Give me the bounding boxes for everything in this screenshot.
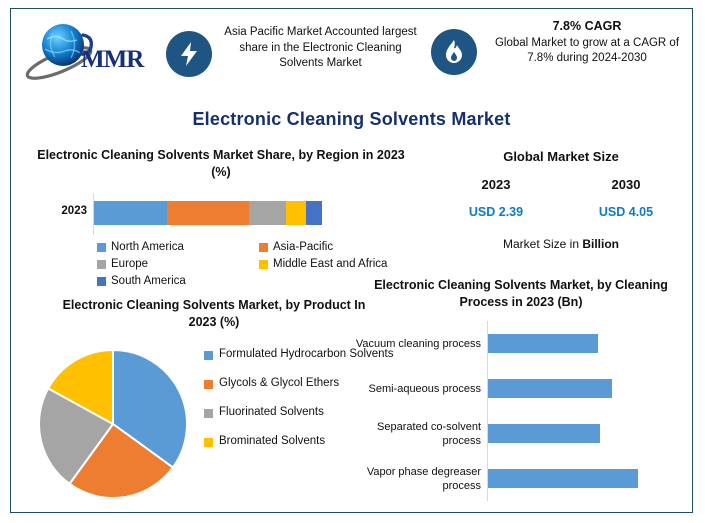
gms-value-2023: USD 2.39 [431, 205, 561, 219]
region-share-chart: Electronic Cleaning Solvents Market Shar… [21, 147, 421, 287]
process-category-label: Separated co-solvent process [351, 411, 481, 456]
region-legend-label: Europe [111, 256, 148, 272]
process-bar [488, 469, 638, 488]
region-legend-item: North America [97, 239, 259, 255]
page-title: Electronic Cleaning Solvents Market [11, 109, 692, 130]
legend-swatch-icon [259, 243, 268, 252]
legend-swatch-icon [97, 243, 106, 252]
pie-legend-label: Brominated Solvents [219, 434, 325, 449]
process-row: Separated co-solvent process [351, 411, 691, 456]
region-segment-3 [286, 201, 307, 225]
global-market-size-values: USD 2.39 USD 4.05 [431, 205, 691, 219]
region-segment-4 [306, 201, 322, 225]
global-market-size-footnote: Market Size in Billion [431, 237, 691, 251]
region-legend-label: South America [111, 273, 186, 289]
region-legend-item: South America [97, 273, 259, 289]
region-stacked-bar [94, 201, 322, 225]
cagr-description: Global Market to grow at a CAGR of 7.8% … [495, 37, 679, 65]
pie-chart-plot [37, 345, 197, 503]
region-legend-item: Europe [97, 256, 259, 272]
process-row: Vacuum cleaning process [351, 321, 691, 366]
region-legend-label: North America [111, 239, 184, 255]
mmr-logo: MMR [23, 19, 163, 87]
legend-swatch-icon [259, 260, 268, 269]
gms-footnote-prefix: Market Size in [503, 237, 582, 251]
svg-text:MMR: MMR [81, 46, 145, 73]
region-legend-item: Asia-Pacific [259, 239, 421, 255]
header: MMR Asia Pacific Market Accounted larges… [11, 9, 692, 101]
header-highlight-region-text: Asia Pacific Market Accounted largest sh… [218, 25, 423, 72]
process-bar [488, 424, 600, 443]
process-category-label: Semi-aqueous process [351, 366, 481, 411]
header-highlight-cagr-text: 7.8% CAGR Global Market to grow at a CAG… [483, 19, 691, 67]
cagr-headline: 7.8% CAGR [483, 19, 691, 35]
legend-swatch-icon [204, 438, 213, 447]
region-segment-2 [249, 201, 285, 225]
gms-footnote-unit: Billion [582, 237, 619, 251]
gms-year-2030: 2030 [561, 177, 691, 192]
pie-legend-label: Fluorinated Solvents [219, 405, 324, 420]
gms-value-2030: USD 4.05 [561, 205, 691, 219]
process-chart-plot: Vacuum cleaning processSemi-aqueous proc… [351, 321, 691, 501]
legend-swatch-icon [204, 380, 213, 389]
cleaning-process-chart: Electronic Cleaning Solvents Market, by … [351, 277, 691, 509]
region-legend-label: Middle East and Africa [273, 256, 387, 272]
region-legend-item: Middle East and Africa [259, 256, 421, 272]
global-market-size-years: 2023 2030 [431, 177, 691, 192]
process-row: Semi-aqueous process [351, 366, 691, 411]
pie-chart-title: Electronic Cleaning Solvents Market, by … [49, 297, 379, 331]
header-highlight-cagr: 7.8% CAGR Global Market to grow at a CAG… [431, 19, 691, 91]
region-chart-title: Electronic Cleaning Solvents Market Shar… [31, 147, 411, 181]
legend-swatch-icon [204, 409, 213, 418]
region-segment-0 [94, 201, 167, 225]
header-highlight-region: Asia Pacific Market Accounted largest sh… [166, 19, 426, 91]
process-category-label: Vapor phase degreaser process [351, 456, 481, 501]
process-chart-title: Electronic Cleaning Solvents Market, by … [371, 277, 671, 311]
region-category-label: 2023 [21, 205, 87, 217]
region-legend-label: Asia-Pacific [273, 239, 333, 255]
process-bar [488, 379, 612, 398]
region-segment-1 [167, 201, 249, 225]
gms-year-2023: 2023 [431, 177, 561, 192]
region-chart-plot: 2023 [21, 193, 421, 235]
global-market-size-title: Global Market Size [431, 149, 691, 164]
pie-legend-label: Glycols & Glycol Ethers [219, 376, 339, 391]
process-category-label: Vacuum cleaning process [351, 321, 481, 366]
process-row: Vapor phase degreaser process [351, 456, 691, 501]
flame-icon [431, 29, 477, 75]
legend-swatch-icon [97, 277, 106, 286]
legend-swatch-icon [97, 260, 106, 269]
legend-swatch-icon [204, 351, 213, 360]
infographic-frame: MMR Asia Pacific Market Accounted larges… [10, 8, 693, 513]
lightning-bolt-icon [166, 31, 212, 77]
process-bar [488, 334, 598, 353]
global-market-size-panel: Global Market Size 2023 2030 USD 2.39 US… [431, 149, 691, 274]
